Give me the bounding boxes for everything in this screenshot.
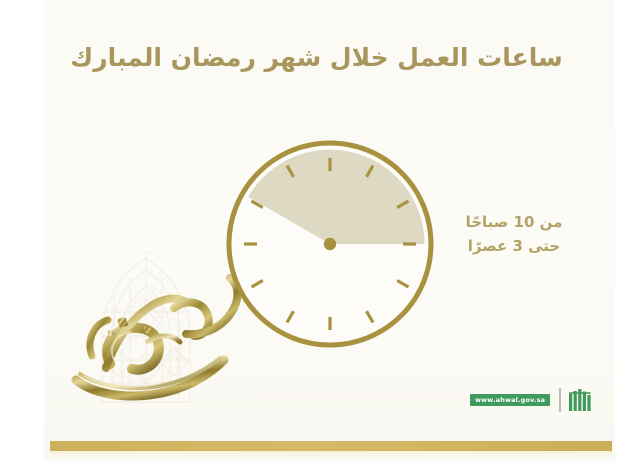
gold-bottom-bar	[50, 441, 612, 451]
poster-root: ساعات العمل خلال شهر رمضان المبارك	[0, 0, 626, 461]
hours-line-1: من 10 صباحًا	[455, 210, 573, 234]
logo-divider	[559, 388, 561, 412]
clock-hub	[324, 238, 336, 250]
page-title: ساعات العمل خلال شهر رمضان المبارك	[44, 42, 589, 75]
hours-line-2: حتى 3 عصرًا	[455, 234, 573, 258]
footer-logo-block: www.ahwal.gov.sa	[470, 382, 590, 418]
website-url-chip[interactable]: www.ahwal.gov.sa	[470, 394, 550, 407]
gold-bar-glow	[50, 451, 612, 459]
ahwal-bars-logo-icon	[568, 387, 594, 413]
working-hours-text: من 10 صباحًا حتى 3 عصرًا	[455, 210, 573, 259]
analog-clock	[222, 136, 438, 352]
